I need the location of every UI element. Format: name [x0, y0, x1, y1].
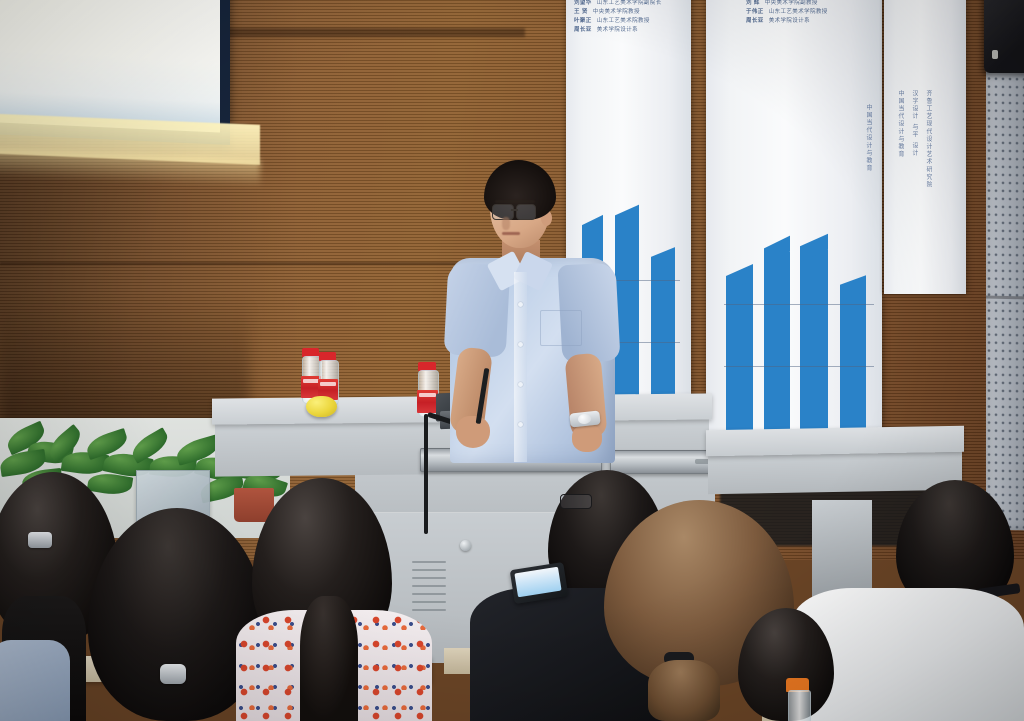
credit-name: 王 贤	[574, 9, 588, 15]
ceiling-speaker	[984, 0, 1024, 73]
credit-role: 中央美术学院副教授	[765, 0, 818, 6]
banner-credit-line: 周长亚美术学院设计系	[574, 26, 691, 35]
credit-name: 周长亚	[746, 18, 764, 24]
presenter-nose	[502, 217, 510, 230]
banner-credit-line: 刘望华山东工艺美术学院副院长	[574, 0, 691, 8]
credit-role: 中央美术学院教授	[593, 9, 640, 15]
banner-left-header: 主 持山东工艺美术学院 刘望华山东工艺美术学院副院长 王 贤中央美术学院教授 叶…	[574, 0, 691, 35]
credit-role: 山东工艺美术学院副院长	[597, 0, 662, 6]
credit-role: 美术学院设计系	[597, 27, 638, 33]
credit-name: 于伟正	[746, 9, 764, 15]
banner-middle: 刘志华山东工艺美术学院 刘 辉中央美术学院副教授 于伟正山东工艺美术学院教授 周…	[706, 0, 882, 454]
shirt-button	[518, 302, 523, 307]
credit-name: 周长亚	[574, 27, 592, 33]
banner-bar-graphic	[726, 280, 753, 450]
hair-clip	[28, 532, 52, 548]
banner-bar-graphic	[764, 252, 790, 450]
banner-rule	[724, 304, 874, 305]
credit-name: 叶聚正	[574, 18, 592, 24]
shirt-pocket	[540, 310, 582, 346]
banner-vertical-text: 中国当代设计与教育	[896, 90, 905, 158]
wall-seam-band	[225, 28, 525, 37]
eyeglasses-lens-right	[516, 204, 536, 220]
eyeglasses	[560, 494, 592, 509]
lemon	[306, 396, 337, 417]
banner-credit-line: 刘 辉中央美术学院副教授	[746, 0, 882, 8]
presenter	[440, 160, 625, 460]
eyeglasses-bridge	[511, 209, 518, 211]
banner-credit-line: 周长亚美术学院设计系	[746, 17, 882, 26]
banner-rule	[724, 366, 874, 367]
audience-body	[0, 640, 70, 721]
speaker-indicator-icon	[992, 50, 998, 59]
banner-middle-header: 刘志华山东工艺美术学院 刘 辉中央美术学院副教授 于伟正山东工艺美术学院教授 周…	[746, 0, 882, 26]
projection-screen-surface: 课程 课程 课程 课程	[0, 0, 220, 133]
banner-credit-line: 王 贤中央美术学院教授	[574, 8, 691, 17]
audience-hair-strand	[300, 596, 358, 721]
ponytail	[648, 660, 720, 721]
podium-lock-knob[interactable]	[460, 540, 471, 551]
credit-role: 山东工艺美术学院教授	[769, 9, 828, 15]
banner-credit-line: 叶聚正山东工艺美术院教授	[574, 17, 691, 26]
power-cable	[424, 414, 428, 534]
banner-bar-graphic	[800, 250, 828, 450]
projector-glow	[0, 0, 220, 133]
banner-credit-line: 于伟正山东工艺美术学院教授	[746, 8, 882, 17]
hair-clip	[160, 664, 186, 684]
credit-role: 山东工艺美术院教授	[597, 18, 650, 24]
credit-name: 刘 辉	[746, 0, 760, 6]
shirt-button	[518, 342, 523, 347]
presenter-brow	[495, 200, 535, 203]
banner-right: 中国当代设计与教育 汉字设计 与平 设计 齐鲁工艺现代设计艺术研究院	[884, 0, 966, 294]
credit-role: 美术学院设计系	[769, 18, 810, 24]
water-bottle	[788, 690, 811, 721]
lecture-hall-photo: 课程 课程 课程 课程 主 持山东工艺美术学院 刘望华山东工艺美术学院副院长 王…	[0, 0, 1024, 721]
credit-name: 刘望华	[574, 0, 592, 6]
presenter-hand-left	[456, 416, 490, 448]
shirt-button	[518, 382, 523, 387]
banner-vertical-text: 汉字设计 与平 设计	[910, 90, 919, 157]
right-desk-top	[706, 426, 964, 457]
presenter-shirt-placket	[514, 272, 527, 462]
shirt-button	[518, 422, 523, 427]
banner-bar-graphic	[840, 290, 866, 450]
banner-vertical-text: 齐鲁工艺现代设计艺术研究院	[924, 90, 933, 189]
presenter-mouth	[502, 232, 520, 235]
banner-vertical-text: 中国当代设计与教育	[864, 104, 873, 172]
presenter-hand-right	[572, 424, 602, 452]
